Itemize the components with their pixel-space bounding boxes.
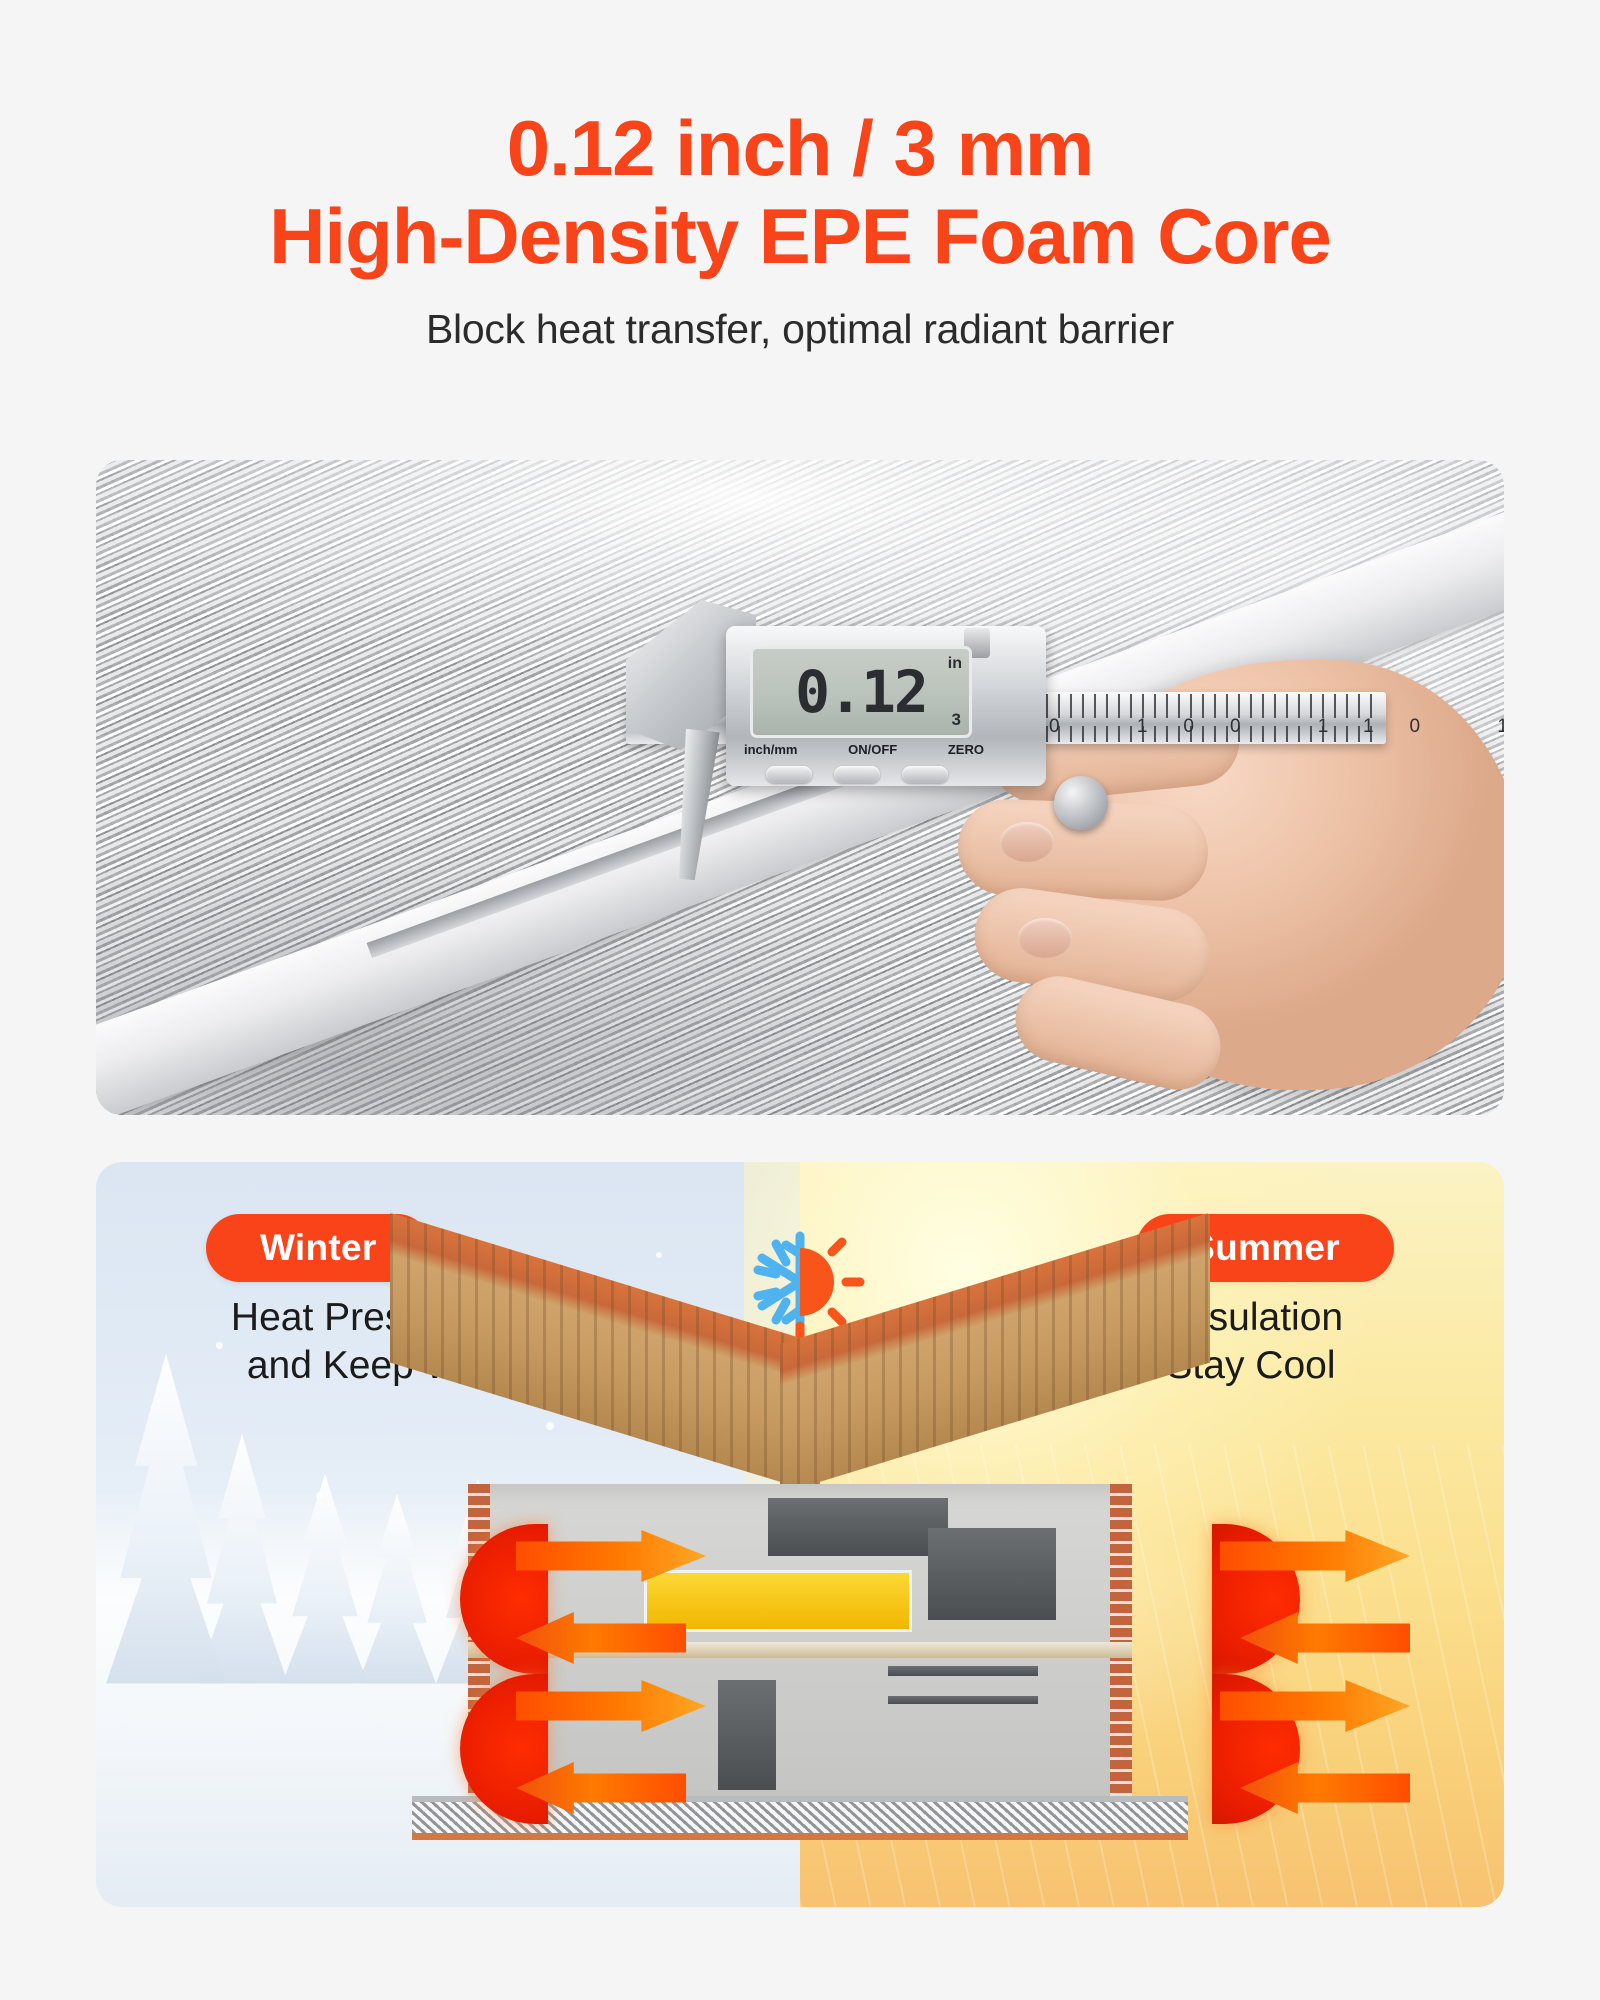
fingernail — [1018, 918, 1072, 958]
caliper-lcd-screen: 0.12 in 3 — [750, 646, 972, 738]
caliper-button-inch-mm — [766, 766, 812, 783]
headline-line-2: High-Density EPE Foam Core — [0, 192, 1600, 280]
snowflake-icon — [758, 1236, 800, 1328]
caliper-mode-zero: ZERO — [948, 742, 984, 757]
caliper-thumb-wheel — [1054, 776, 1108, 830]
caliper-mode-inch-mm: inch/mm — [744, 742, 797, 757]
digital-caliper: 80 90 100 110 120 130 140 150 160 0.12 i… — [626, 600, 1386, 860]
stair-rail — [888, 1666, 1038, 1676]
page-header: 0.12 inch / 3 mm High-Density EPE Foam C… — [0, 0, 1600, 353]
upper-partition — [928, 1528, 1056, 1620]
headline-line-1: 0.12 inch / 3 mm — [507, 104, 1094, 192]
caliper-mode-labels: inch/mm ON/OFF ZERO — [744, 742, 984, 757]
falling-snow — [316, 1492, 323, 1499]
caliper-button-zero — [902, 766, 948, 783]
caliper-reading-value: 0.12 — [795, 658, 927, 726]
caliper-button-row — [766, 766, 966, 783]
interior-door — [718, 1680, 776, 1790]
falling-snow — [656, 1252, 662, 1258]
caliper-lower-jaw — [670, 729, 719, 882]
season-comparison-card: Winter Heat Preservation and Keep Warm S… — [96, 1162, 1504, 1907]
caliper-mode-on-off: ON/OFF — [848, 742, 897, 757]
caliper-photo-card: 80 90 100 110 120 130 140 150 160 0.12 i… — [96, 460, 1504, 1115]
page-subtitle: Block heat transfer, optimal radiant bar… — [0, 306, 1600, 353]
kitchen-counter — [644, 1570, 912, 1632]
house-cutaway-illustration — [390, 1344, 1210, 1844]
caliper-button-on-off — [834, 766, 880, 783]
ceiling-hood — [768, 1498, 948, 1556]
page-title: 0.12 inch / 3 mm High-Density EPE Foam C… — [0, 104, 1600, 280]
stair-rail — [888, 1696, 1038, 1704]
caliper-unit-label: in — [948, 655, 962, 673]
caliper-mm-indicator: 3 — [952, 710, 961, 730]
